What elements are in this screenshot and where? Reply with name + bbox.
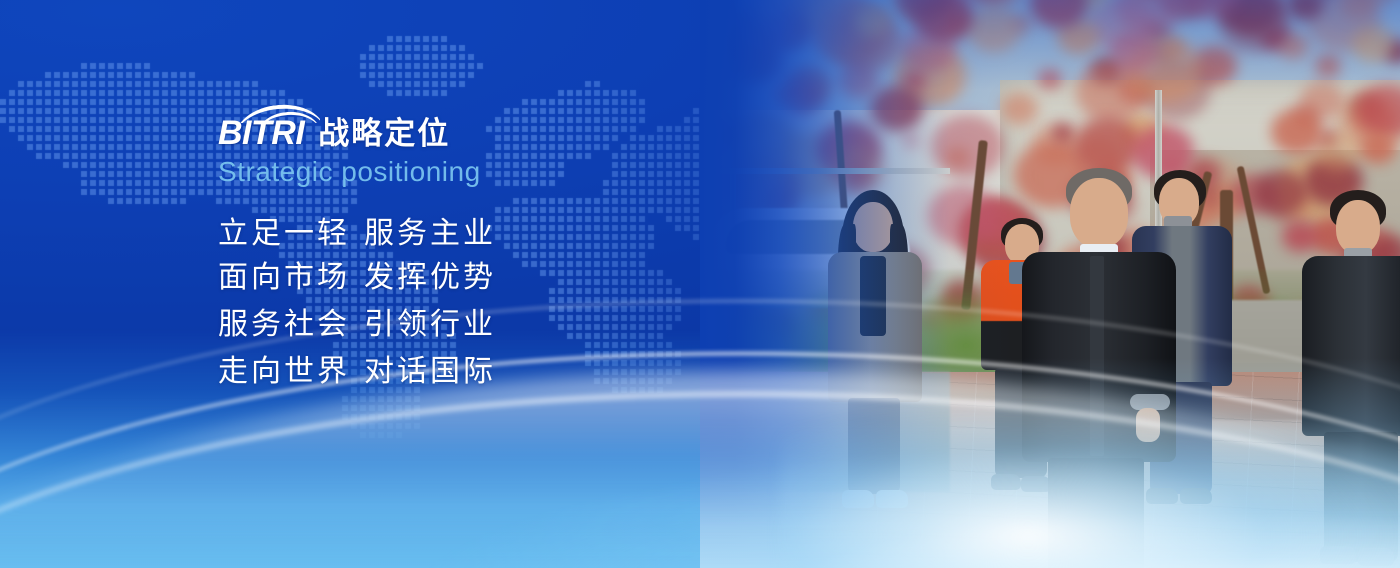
bitri-logo: BITRI [218, 116, 304, 150]
page-subtitle-en: Strategic positioning [218, 156, 738, 188]
slogan-right: 引领行业 [364, 303, 496, 347]
slogan-line: 走向世界 对话国际 [218, 350, 738, 394]
slogan-right: 服务主业 [364, 212, 496, 256]
slogan-line: 面向市场 发挥优势 [218, 256, 738, 300]
logo-row: BITRI 战略定位 [218, 108, 738, 150]
strategic-positioning-banner: BITRI 战略定位 Strategic positioning 立足一轻 服务… [0, 0, 1400, 568]
headline-block: BITRI 战略定位 Strategic positioning 立足一轻 服务… [218, 108, 738, 394]
page-title-cn: 战略定位 [318, 117, 450, 150]
slogan-line: 立足一轻 服务主业 [218, 212, 738, 256]
photo-people-walking [700, 0, 1400, 568]
slogan-left: 面向市场 [218, 256, 364, 300]
slogan-left: 服务社会 [218, 303, 364, 347]
swoosh-arc-icon [234, 103, 320, 123]
slogan-left: 走向世界 [218, 350, 364, 394]
slogan-right: 对话国际 [364, 350, 496, 394]
slogan-left: 立足一轻 [218, 212, 364, 256]
slogan-right: 发挥优势 [364, 256, 496, 300]
slogan-line: 服务社会 引领行业 [218, 303, 738, 347]
photo-bottom-fade [700, 358, 1400, 568]
slogan-list: 立足一轻 服务主业 面向市场 发挥优势 服务社会 引领行业 走向世界 对话国际 [218, 212, 738, 394]
